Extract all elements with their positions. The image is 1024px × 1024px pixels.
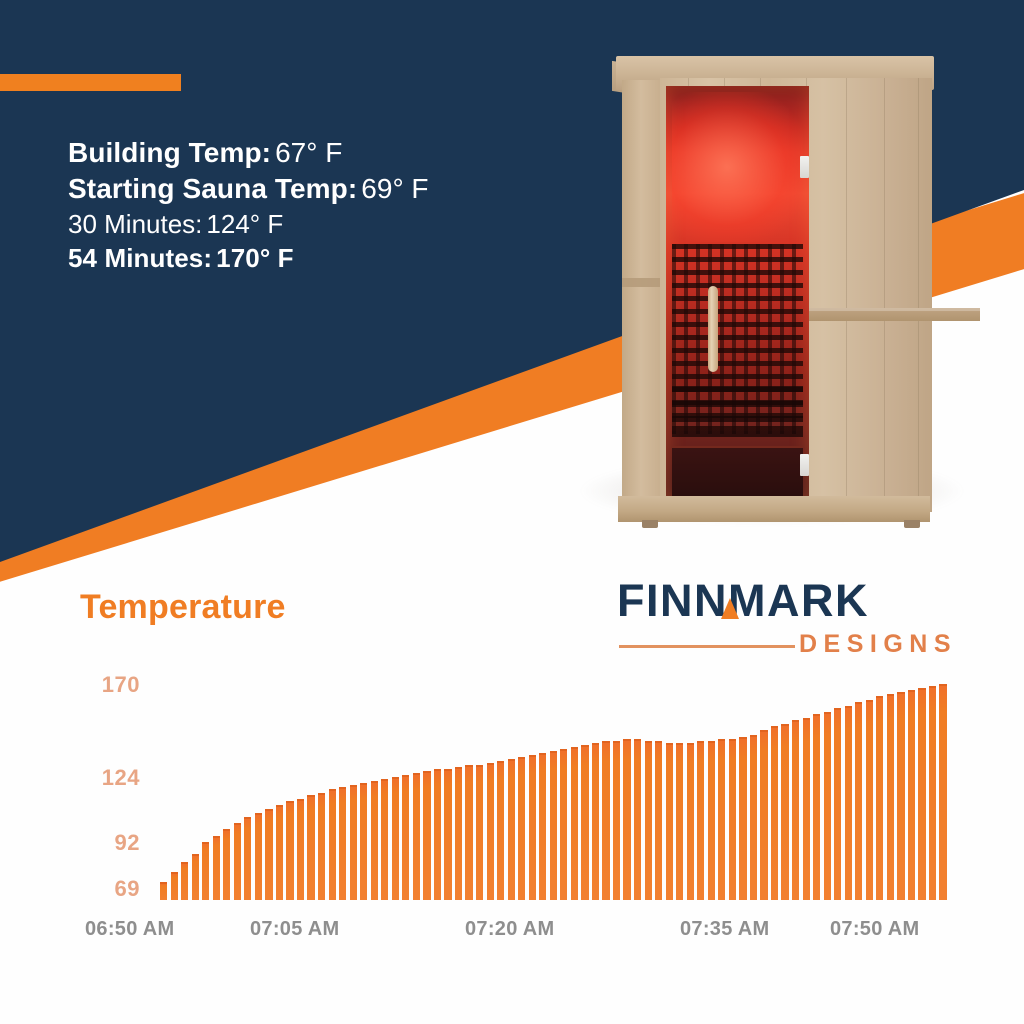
chart-bar	[739, 737, 746, 900]
chart-bar	[339, 787, 346, 900]
chart-bar	[834, 708, 841, 900]
chart-bar	[539, 753, 546, 900]
sauna-left-side-panel	[622, 80, 664, 500]
stat-line-starting-sauna-temp: Starting Sauna Temp:69° F	[68, 175, 588, 203]
chart-bar	[602, 741, 609, 900]
stat-label-starting-sauna-temp: Starting Sauna Temp:	[68, 173, 357, 204]
chart-bar	[181, 862, 188, 900]
chart-bar	[866, 700, 873, 900]
chart-title: Temperature	[80, 588, 286, 627]
stat-value-30-minutes: 124° F	[206, 209, 283, 239]
stat-value-building-temp: 67° F	[275, 137, 342, 168]
chart-bar	[192, 854, 199, 900]
sauna-foot-left	[642, 520, 658, 528]
chart-bar	[413, 773, 420, 900]
chart-bar	[213, 836, 220, 901]
chart-bar	[223, 829, 230, 900]
chart-bar	[592, 743, 599, 900]
chart-bar	[234, 823, 241, 900]
stat-value-54-minutes: 170° F	[216, 243, 293, 273]
chart-bar	[729, 739, 736, 900]
chart-x-axis-tick-1: 07:05 AM	[250, 918, 339, 941]
chart-bar	[634, 739, 641, 900]
chart-bar	[855, 702, 862, 900]
chart-bar	[318, 793, 325, 900]
chart-bar	[276, 805, 283, 900]
finnmark-designs-logo: FINNMARK DESIGNS	[617, 578, 957, 666]
chart-bar	[455, 767, 462, 900]
logo-subline: DESIGNS	[617, 632, 957, 658]
chart-bar	[824, 712, 831, 900]
sauna-rail-highlight	[808, 308, 980, 311]
chart-x-axis-tick-0: 06:50 AM	[85, 918, 174, 941]
chart-bar	[645, 741, 652, 900]
chart-bar	[771, 726, 778, 900]
chart-bar	[918, 688, 925, 900]
chart-bar	[297, 799, 304, 900]
chart-bar	[265, 809, 272, 900]
chart-bar	[350, 785, 357, 900]
chart-bar	[939, 684, 946, 900]
chart-bar	[887, 694, 894, 900]
chart-bar	[508, 759, 515, 900]
chart-bar	[676, 743, 683, 900]
chart-bar	[581, 745, 588, 900]
chart-bar	[718, 739, 725, 900]
sauna-base-plinth	[618, 496, 930, 522]
chart-y-axis-tick-69: 69	[10, 876, 140, 902]
chart-bar	[750, 735, 757, 901]
chart-bar	[697, 741, 704, 900]
chart-bar	[529, 755, 536, 900]
chart-bar	[550, 751, 557, 900]
chart-bar	[171, 872, 178, 900]
infrared-heater-panel-lower	[672, 386, 803, 444]
chart-bar	[845, 706, 852, 900]
chart-x-axis-tick-4: 07:50 AM	[830, 918, 919, 941]
sauna-door-hinge-top	[800, 156, 809, 178]
chart-bar	[497, 761, 504, 900]
chart-bar	[666, 743, 673, 900]
chart-y-axis-tick-124: 124	[10, 765, 140, 791]
chart-bar	[813, 714, 820, 900]
chart-bar	[329, 789, 336, 900]
chart-bar	[381, 779, 388, 900]
chart-bar	[392, 777, 399, 900]
stat-label-30-minutes: 30 Minutes:	[68, 209, 202, 239]
stat-label-building-temp: Building Temp:	[68, 137, 271, 168]
logo-wordmark-text: FINNMARK	[617, 575, 869, 626]
chart-bar	[613, 741, 620, 900]
chart-y-axis-labels: 1701249269	[0, 660, 140, 910]
logo-wordmark: FINNMARK	[617, 578, 957, 623]
chart-bar	[908, 690, 915, 900]
stat-line-54-minutes: 54 Minutes:170° F	[68, 245, 588, 271]
infrared-glow	[672, 92, 803, 242]
chart-bar	[307, 795, 314, 900]
chart-bar	[760, 730, 767, 900]
chart-bar	[286, 801, 293, 900]
stat-line-building-temp: Building Temp:67° F	[68, 139, 588, 167]
chart-bar	[623, 739, 630, 900]
temperature-stats-block: Building Temp:67° F Starting Sauna Temp:…	[68, 139, 588, 279]
infographic-canvas: Building Temp:67° F Starting Sauna Temp:…	[0, 0, 1024, 1024]
chart-bar	[255, 813, 262, 900]
chart-x-axis-labels: 06:50 AM07:05 AM07:20 AM07:35 AM07:50 AM	[0, 918, 1024, 948]
chart-bar	[402, 775, 409, 900]
sauna-bench	[672, 446, 803, 496]
chart-bar	[687, 743, 694, 900]
chart-bar	[476, 765, 483, 900]
sauna-glass-door-with-infrared-glow	[666, 86, 809, 500]
chart-x-axis-tick-2: 07:20 AM	[465, 918, 554, 941]
chart-bar	[792, 720, 799, 900]
chart-bar	[897, 692, 904, 900]
chart-y-axis-tick-170: 170	[10, 672, 140, 698]
chart-bar	[423, 771, 430, 900]
sauna-door-hinge-bottom	[800, 454, 809, 476]
top-left-orange-accent-bar	[0, 74, 181, 91]
chart-bar	[244, 817, 251, 900]
chart-bar	[518, 757, 525, 900]
logo-subline-text: DESIGNS	[799, 632, 957, 657]
stat-line-30-minutes: 30 Minutes:124° F	[68, 211, 588, 237]
chart-plot-area	[160, 660, 950, 900]
chart-bar	[781, 724, 788, 900]
stat-label-54-minutes: 54 Minutes:	[68, 243, 212, 273]
chart-bar	[929, 686, 936, 900]
chart-bar	[803, 718, 810, 900]
chart-bar	[655, 741, 662, 900]
infrared-sauna-product-image	[612, 56, 934, 516]
chart-bar	[160, 882, 167, 900]
temperature-bar-chart: 1701249269 06:50 AM07:05 AM07:20 AM07:35…	[0, 660, 1024, 970]
chart-bar	[444, 769, 451, 900]
chart-bar	[371, 781, 378, 900]
chart-bar	[708, 741, 715, 900]
chart-y-axis-tick-92: 92	[10, 830, 140, 856]
chart-bar	[560, 749, 567, 900]
chart-bar	[571, 747, 578, 900]
logo-triangle-icon	[721, 598, 739, 619]
chart-bar	[434, 769, 441, 900]
stat-value-starting-sauna-temp: 69° F	[361, 173, 428, 204]
chart-x-axis-tick-3: 07:35 AM	[680, 918, 769, 941]
logo-divider-rule	[619, 645, 795, 648]
chart-bar	[487, 763, 494, 900]
chart-bar	[202, 842, 209, 900]
sauna-foot-right	[904, 520, 920, 528]
chart-bar	[465, 765, 472, 900]
chart-bar	[876, 696, 883, 900]
chart-bar	[360, 783, 367, 900]
sauna-door-handle	[708, 286, 718, 372]
